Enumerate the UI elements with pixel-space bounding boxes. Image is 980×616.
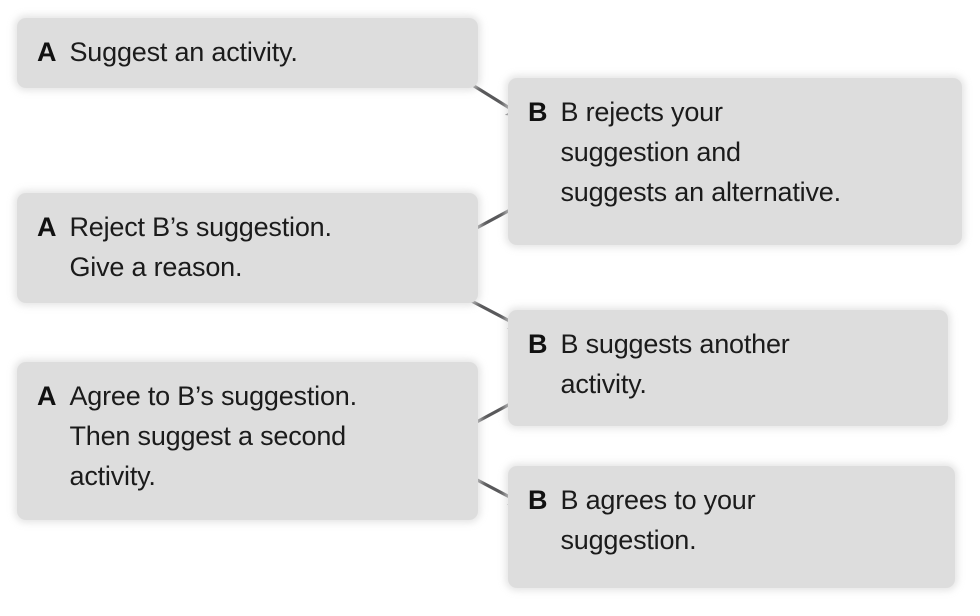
turn-line: suggests an alternative.	[561, 172, 947, 212]
turn-line: activity.	[70, 456, 463, 496]
turn-text-a3: Agree to B’s suggestion. Then suggest a …	[70, 376, 463, 496]
turn-line: B agrees to your	[561, 480, 940, 520]
speaker-label-a: A	[37, 207, 57, 247]
diagram-canvas: A Suggest an activity. B B rejects your …	[0, 0, 980, 616]
turn-box-a1[interactable]: A Suggest an activity.	[17, 18, 478, 88]
turn-text-b3: B agrees to your suggestion.	[561, 480, 940, 560]
speaker-label-a: A	[37, 376, 57, 416]
turn-line: B rejects your	[561, 92, 947, 132]
turn-line: suggestion and	[561, 132, 947, 172]
turn-line: activity.	[561, 364, 933, 404]
turn-line: suggestion.	[561, 520, 940, 560]
turn-box-a2[interactable]: A Reject B’s suggestion. Give a reason.	[17, 193, 478, 303]
turn-line: Then suggest a second	[70, 416, 463, 456]
speaker-label-b: B	[528, 324, 548, 364]
turn-box-b1[interactable]: B B rejects your suggestion and suggests…	[508, 78, 962, 245]
turn-line: Give a reason.	[70, 247, 463, 287]
speaker-label-b: B	[528, 480, 548, 520]
speaker-label-a: A	[37, 32, 57, 72]
speaker-label-b: B	[528, 92, 548, 132]
turn-text-b1: B rejects your suggestion and suggests a…	[561, 92, 947, 212]
turn-line: Reject B’s suggestion.	[70, 207, 463, 247]
turn-line: Agree to B’s suggestion.	[70, 376, 463, 416]
turn-text-a2: Reject B’s suggestion. Give a reason.	[70, 207, 463, 287]
turn-box-a3[interactable]: A Agree to B’s suggestion. Then suggest …	[17, 362, 478, 520]
turn-box-b3[interactable]: B B agrees to your suggestion.	[508, 466, 955, 588]
turn-text-a1: Suggest an activity.	[70, 32, 463, 72]
turn-text-b2: B suggests another activity.	[561, 324, 933, 404]
turn-box-b2[interactable]: B B suggests another activity.	[508, 310, 948, 426]
turn-line: Suggest an activity.	[70, 32, 463, 72]
turn-line: B suggests another	[561, 324, 933, 364]
